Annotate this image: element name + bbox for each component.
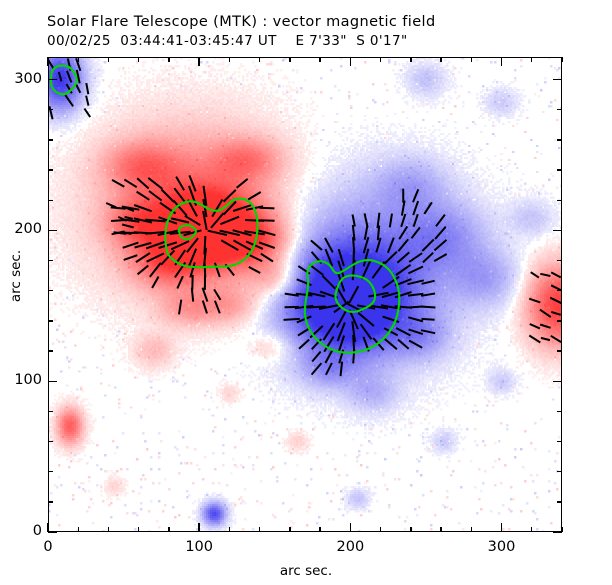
y-tick-left	[48, 290, 53, 291]
y-tick-left	[48, 350, 53, 351]
x-tick-label: 0	[18, 539, 78, 555]
y-tick-right	[553, 531, 562, 532]
x-tick-top	[319, 57, 320, 62]
x-tick-bottom	[108, 527, 109, 532]
x-tick-top	[138, 57, 139, 62]
y-tick-right	[557, 169, 562, 170]
x-tick-label: 100	[169, 539, 229, 555]
y-tick-left	[48, 471, 53, 472]
x-tick-label: 200	[320, 539, 380, 555]
x-tick-bottom	[198, 523, 199, 532]
y-axis-title: arc sec.	[8, 236, 24, 316]
y-tick-right	[553, 79, 562, 80]
y-tick-left	[48, 169, 53, 170]
x-tick-label: 300	[472, 539, 532, 555]
x-tick-top	[380, 57, 381, 62]
figure-title: Solar Flare Telescope (MTK) : vector mag…	[47, 14, 436, 30]
x-axis-title: arc sec.	[0, 563, 612, 579]
x-tick-top	[531, 57, 532, 62]
x-tick-top	[47, 57, 48, 66]
figure-subtitle: 00/02/25 03:44:41-03:45:47 UT E 7'33" S …	[47, 33, 408, 49]
x-tick-bottom	[229, 527, 230, 532]
x-tick-bottom	[319, 527, 320, 532]
x-tick-bottom	[168, 527, 169, 532]
y-tick-right	[557, 350, 562, 351]
plot-area	[48, 57, 562, 532]
y-tick-right	[557, 320, 562, 321]
x-tick-top	[350, 57, 351, 66]
y-tick-left	[48, 320, 53, 321]
x-tick-top	[289, 57, 290, 62]
x-tick-bottom	[501, 523, 502, 532]
y-tick-left	[48, 79, 57, 80]
x-tick-bottom	[138, 527, 139, 532]
y-tick-left	[48, 441, 53, 442]
x-tick-bottom	[471, 527, 472, 532]
x-tick-top	[561, 57, 562, 62]
y-tick-right	[557, 109, 562, 110]
y-tick-label: 200	[2, 221, 42, 237]
y-tick-label: 300	[2, 71, 42, 87]
x-tick-bottom	[350, 523, 351, 532]
y-tick-right	[557, 290, 562, 291]
y-tick-label: 100	[2, 372, 42, 388]
x-tick-top	[471, 57, 472, 62]
x-tick-top	[440, 57, 441, 62]
y-tick-right	[557, 471, 562, 472]
x-tick-top	[501, 57, 502, 66]
y-tick-right	[557, 200, 562, 201]
y-tick-right	[557, 501, 562, 502]
y-tick-right	[557, 441, 562, 442]
x-tick-bottom	[259, 527, 260, 532]
y-tick-left	[48, 531, 57, 532]
y-tick-right	[557, 411, 562, 412]
y-tick-label: 0	[2, 523, 42, 539]
y-tick-right	[557, 139, 562, 140]
x-tick-top	[259, 57, 260, 62]
x-tick-top	[410, 57, 411, 62]
x-tick-top	[78, 57, 79, 62]
y-tick-right	[553, 230, 562, 231]
x-tick-bottom	[289, 527, 290, 532]
magnetogram-figure: Solar Flare Telescope (MTK) : vector mag…	[0, 0, 612, 585]
y-tick-left	[48, 260, 53, 261]
y-tick-left	[48, 200, 53, 201]
x-tick-top	[108, 57, 109, 62]
y-tick-left	[48, 501, 53, 502]
x-tick-top	[198, 57, 199, 66]
contour-layer	[48, 57, 562, 532]
x-tick-bottom	[78, 527, 79, 532]
y-tick-right	[553, 381, 562, 382]
x-tick-bottom	[410, 527, 411, 532]
y-tick-left	[48, 381, 57, 382]
x-tick-bottom	[380, 527, 381, 532]
x-tick-top	[229, 57, 230, 62]
y-tick-right	[557, 260, 562, 261]
y-tick-left	[48, 139, 53, 140]
x-tick-top	[168, 57, 169, 62]
y-tick-left	[48, 411, 53, 412]
x-tick-bottom	[440, 527, 441, 532]
x-tick-bottom	[531, 527, 532, 532]
y-tick-left	[48, 230, 57, 231]
y-tick-left	[48, 109, 53, 110]
